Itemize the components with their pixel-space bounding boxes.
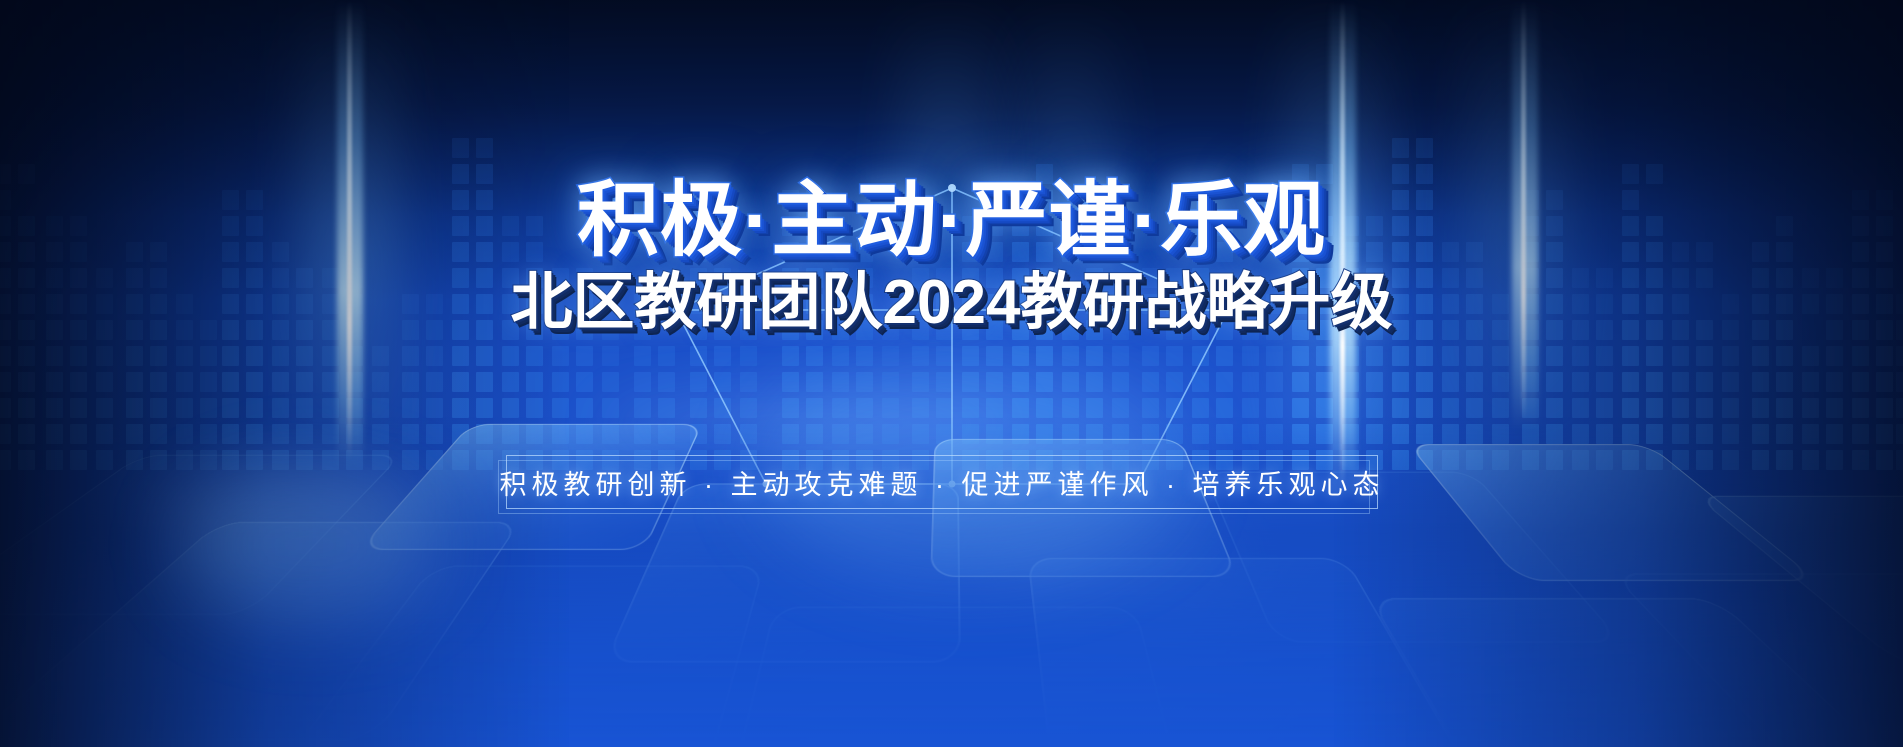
banner-content: 积极·主动·严谨·乐观 北区教研团队2024教研战略升级 积极教研创新 · 主动…: [0, 0, 1903, 747]
page-subtitle: 北区教研团队2024教研战略升级: [511, 269, 1393, 337]
title-block: 积极·主动·严谨·乐观 北区教研团队2024教研战略升级: [0, 178, 1903, 337]
slogan-text: 积极教研创新 · 主动攻克难题 · 促进严谨作风 · 培养乐观心态: [506, 455, 1378, 509]
page-title: 积极·主动·严谨·乐观: [577, 178, 1326, 263]
banner-stage: 积极·主动·严谨·乐观 北区教研团队2024教研战略升级 积极教研创新 · 主动…: [0, 0, 1903, 747]
slogan-frame: 积极教研创新 · 主动攻克难题 · 促进严谨作风 · 培养乐观心态: [506, 455, 1378, 509]
